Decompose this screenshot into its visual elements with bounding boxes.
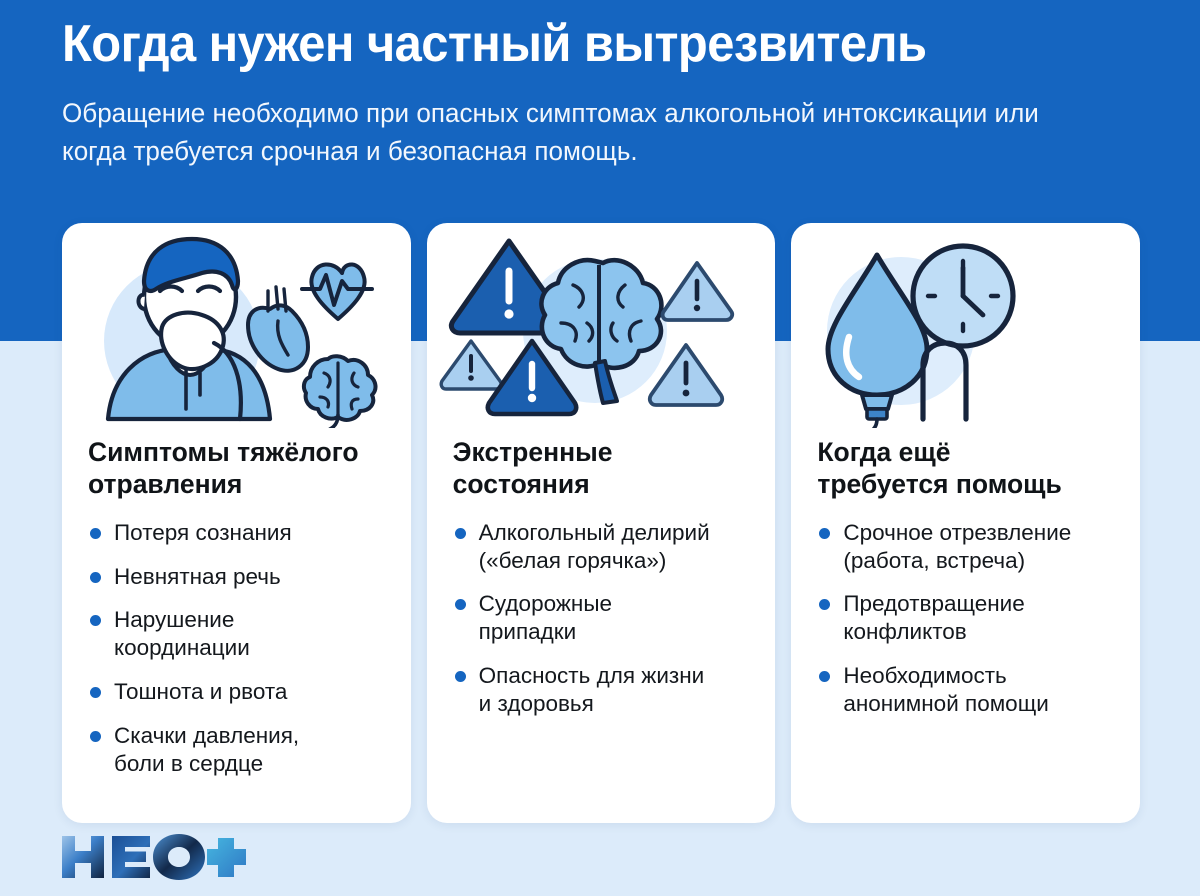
brain-with-warnings-illustration xyxy=(427,223,776,428)
card-1-body: Симптомы тяжёлого отравления Потеря созн… xyxy=(62,428,411,823)
logo-letter-en xyxy=(62,836,104,878)
header: Когда нужен частный вытрезвитель Обращен… xyxy=(62,16,1142,171)
warning-triangle-icon xyxy=(662,263,732,320)
card-2-body: Экстренные состояния Алкогольный делирий… xyxy=(427,428,776,823)
footer xyxy=(58,832,248,882)
list-item: Необходимость анонимной помощи xyxy=(817,662,1114,718)
list-item: Потеря сознания xyxy=(88,519,385,547)
warning-triangle-icon xyxy=(441,341,501,389)
card-grid: Симптомы тяжёлого отравления Потеря созн… xyxy=(62,223,1140,823)
logo-letter-o xyxy=(153,834,205,880)
neo-plus-logo[interactable] xyxy=(58,832,248,882)
list-item: Тошнота и рвота xyxy=(88,678,385,706)
card-2-heading: Экстренные состояния xyxy=(453,436,750,501)
clock-icon xyxy=(913,246,1013,346)
person-ear xyxy=(138,295,145,309)
card-3-body: Когда ещё требуется помощь Срочное отрез… xyxy=(791,428,1140,823)
list-item: Алкогольный делирий («белая горячка») xyxy=(453,519,750,575)
list-item: Невнятная речь xyxy=(88,563,385,591)
card-3-bullet-list: Срочное отрезвление (работа, встреча) Пр… xyxy=(817,519,1114,718)
list-item: Срочное отрезвление (работа, встреча) xyxy=(817,519,1114,575)
card-2-illustration xyxy=(427,223,776,428)
logo-letter-ye xyxy=(112,836,150,878)
list-item: Предотвращение конфликтов xyxy=(817,590,1114,646)
card-3-heading: Когда ещё требуется помощь xyxy=(817,436,1114,501)
sick-person-heart-brain-illustration xyxy=(62,223,411,428)
card-2-bullet-list: Алкогольный делирий («белая горячка») Су… xyxy=(453,519,750,718)
card-when-else-help-needed[interactable]: Когда ещё требуется помощь Срочное отрез… xyxy=(791,223,1140,823)
list-item: Скачки давления, боли в сердце xyxy=(88,722,385,778)
logo-plus-icon xyxy=(207,838,246,877)
list-item: Нарушение координации xyxy=(88,606,385,662)
card-1-bullet-list: Потеря сознания Невнятная речь Нарушение… xyxy=(88,519,385,778)
list-item: Судорожные припадки xyxy=(453,590,750,646)
iv-nozzle-icon xyxy=(862,395,892,428)
card-3-illustration xyxy=(791,223,1140,428)
card-1-heading: Симптомы тяжёлого отравления xyxy=(88,436,385,501)
card-emergency-conditions[interactable]: Экстренные состояния Алкогольный делирий… xyxy=(427,223,776,823)
brain-icon xyxy=(304,356,376,428)
person-hand xyxy=(161,313,224,369)
page-subtitle: Обращение необходимо при опасных симптом… xyxy=(62,94,1066,171)
card-severe-poisoning-symptoms[interactable]: Симптомы тяжёлого отравления Потеря созн… xyxy=(62,223,411,823)
card-1-illustration xyxy=(62,223,411,428)
page-title: Когда нужен частный вытрезвитель xyxy=(62,16,1077,72)
list-item: Опасность для жизни и здоровья xyxy=(453,662,750,718)
heartbeat-icon xyxy=(302,264,372,319)
iv-drip-with-clock-illustration xyxy=(791,223,1140,428)
